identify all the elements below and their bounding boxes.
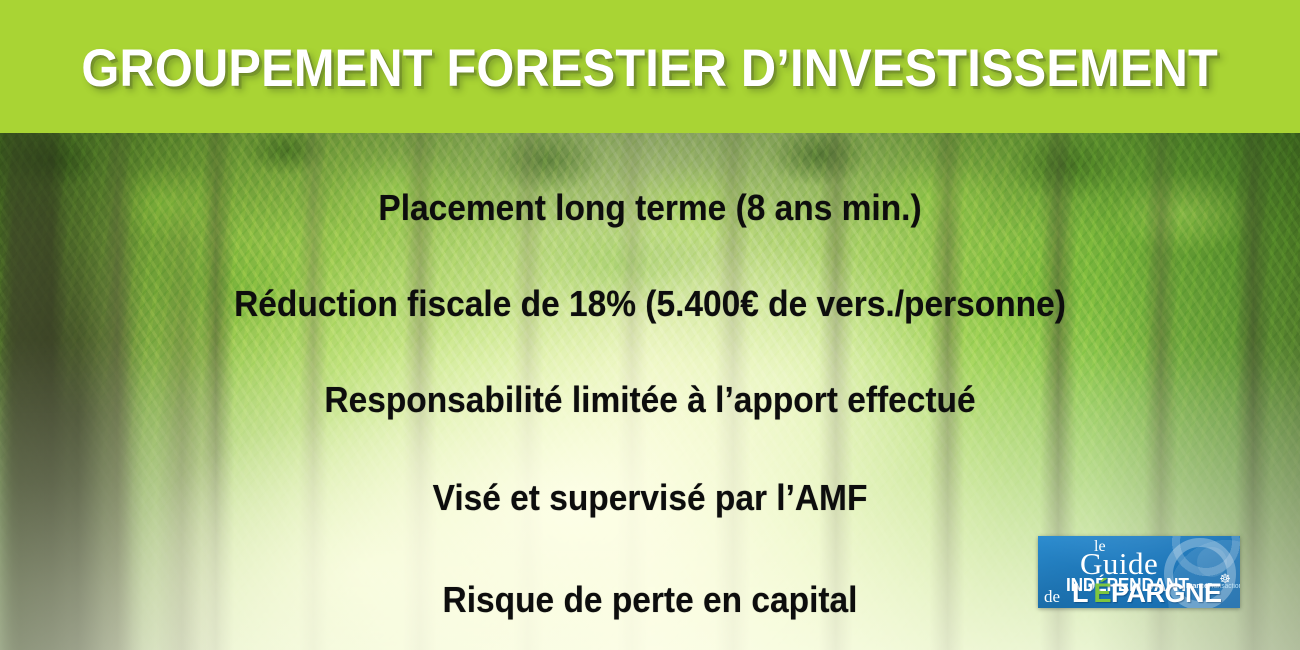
feature-line-2: Réduction fiscale de 18% (5.400€ de vers… — [46, 284, 1255, 324]
feature-line-1: Placement long terme (8 ans min.) — [46, 188, 1255, 228]
promo-banner: GROUPEMENT FORESTIER D’INVESTISSEMENT Pl… — [0, 0, 1300, 650]
logo-de-text: de — [1044, 588, 1060, 605]
feature-line-3: Responsabilité limitée à l’apport effect… — [46, 380, 1255, 420]
guide-epargne-logo[interactable]: le Guide INDÉPENDANT ☸ FranceTransaction… — [1038, 536, 1240, 608]
logo-epargne-rest: PARGNE — [1111, 578, 1222, 608]
logo-epargne-text: L’ÉPARGNE — [1072, 580, 1222, 607]
logo-epargne-prefix: L’ — [1072, 578, 1094, 608]
feature-line-4: Visé et supervisé par l’AMF — [46, 478, 1255, 518]
logo-epargne-accent: É — [1094, 578, 1112, 608]
page-title: GROUPEMENT FORESTIER D’INVESTISSEMENT — [82, 42, 1219, 95]
header-bar: GROUPEMENT FORESTIER D’INVESTISSEMENT — [0, 0, 1300, 133]
